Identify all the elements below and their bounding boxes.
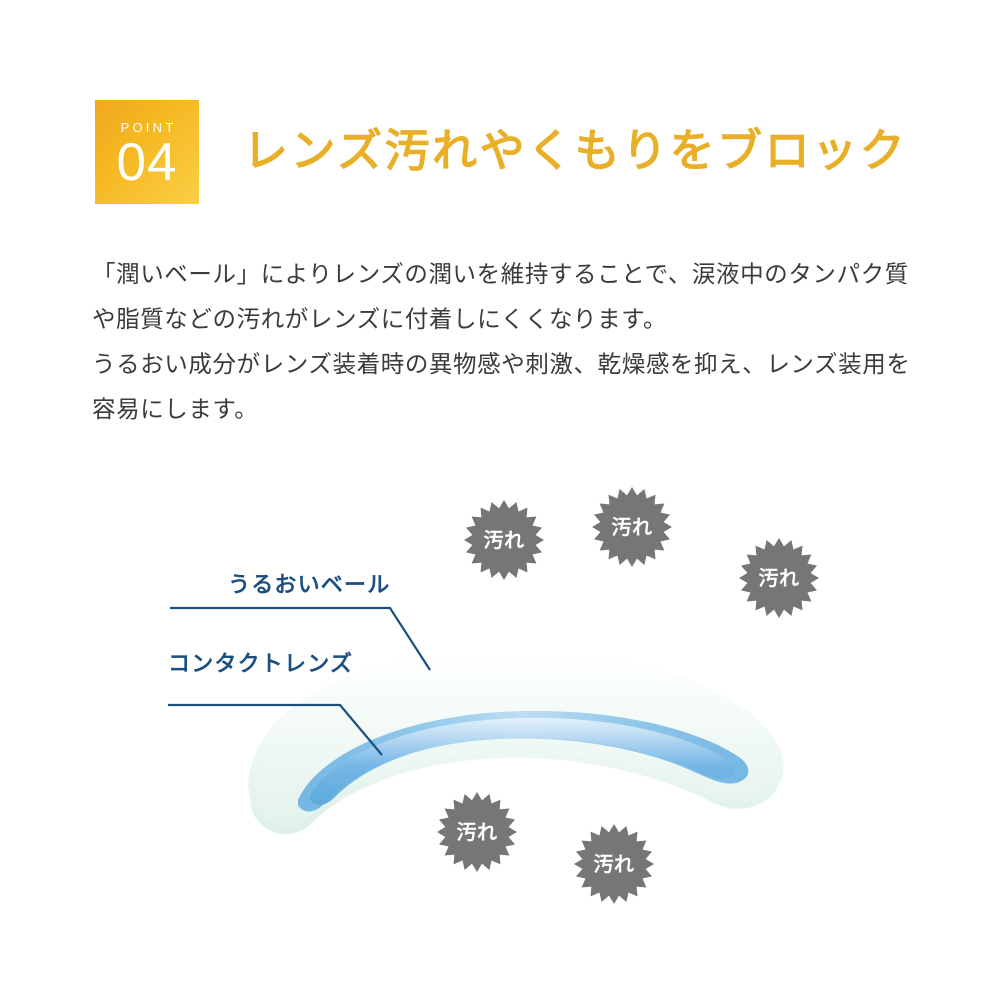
soil-badge-label: 汚れ	[612, 516, 653, 539]
soil-top-left: 汚れ	[464, 500, 544, 580]
label-lens-text: コンタクトレンズ	[168, 651, 353, 676]
point-badge-number: 04	[117, 136, 178, 189]
lens-diagram: うるおいベール コンタクトレンズ	[0, 455, 1000, 935]
soil-badge-label: 汚れ	[759, 567, 800, 590]
soil-badge-label: 汚れ	[594, 853, 635, 876]
soil-badge-label: 汚れ	[457, 821, 498, 844]
label-veil-text: うるおいベール	[228, 572, 390, 597]
body-copy: 「潤いベール」によりレンズの潤いを維持することで、涙液中のタンパク質や脂質などの…	[92, 252, 922, 432]
point-badge: POINT 04	[95, 100, 199, 204]
page-title: レンズ汚れやくもりをブロック	[243, 128, 907, 177]
header: POINT 04 レンズ汚れやくもりをブロック	[95, 100, 907, 204]
body-paragraph-1: 「潤いベール」によりレンズの潤いを維持することで、涙液中のタンパク質や脂質などの…	[92, 252, 922, 342]
body-paragraph-2: うるおい成分がレンズ装着時の異物感や刺激、乾燥感を抑え、レンズ装用を容易にします…	[92, 342, 922, 432]
point-04-feature-panel: POINT 04 レンズ汚れやくもりをブロック 「潤いベール」によりレンズの潤い…	[0, 0, 1000, 1000]
soil-top-center: 汚れ	[592, 487, 672, 567]
soil-badge-label: 汚れ	[484, 529, 525, 552]
soil-top-right: 汚れ	[739, 538, 819, 618]
soil-bottom-left: 汚れ	[437, 792, 517, 872]
soil-bottom-right: 汚れ	[574, 824, 654, 904]
